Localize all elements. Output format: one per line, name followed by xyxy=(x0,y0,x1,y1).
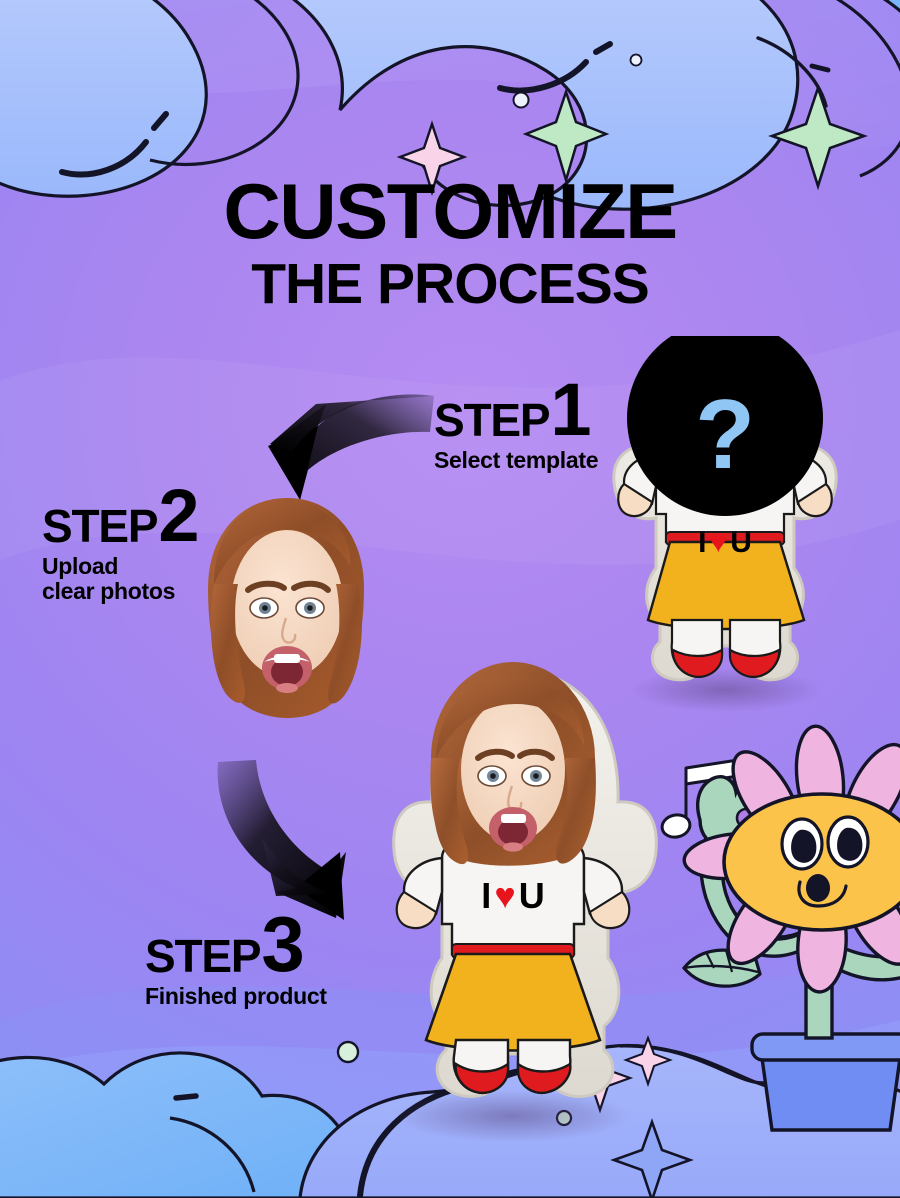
shirt-letter-i: I xyxy=(698,526,706,560)
step-2-word: STEP xyxy=(42,508,157,545)
step-2-heading: STEP 2 xyxy=(42,487,197,545)
promo-poster: CUSTOMIZE THE PROCESS STEP 1 Select temp… xyxy=(0,0,900,1198)
finished-photo-doll[interactable]: I ♥ U xyxy=(368,662,658,1122)
title-main: CUSTOMIZE xyxy=(0,176,900,248)
step-1-number: 1 xyxy=(550,381,588,439)
arrow-step3-icon xyxy=(218,760,346,920)
small-circle-dot xyxy=(514,93,529,108)
shirt-letter-u: U xyxy=(519,875,545,917)
step-2-description: Upload clear photos xyxy=(42,554,197,606)
shirt-letter-u: U xyxy=(730,526,752,560)
small-circle-dot xyxy=(338,1042,358,1062)
shirt-letter-i: I xyxy=(481,875,491,917)
step-2-label-group: STEP 2 Upload clear photos xyxy=(42,487,197,605)
uploaded-photo-face[interactable] xyxy=(182,492,392,722)
step-1-heading: STEP 1 xyxy=(434,381,598,439)
step-3-number: 3 xyxy=(261,914,301,975)
step-2-number: 2 xyxy=(158,487,196,545)
step-1-label-group: STEP 1 Select template xyxy=(434,381,598,473)
heart-icon: ♥ xyxy=(709,526,727,560)
question-mark-icon: ? xyxy=(594,378,856,491)
blank-template-doll[interactable]: ? I ♥ U xyxy=(594,336,856,696)
step-1-description: Select template xyxy=(434,448,598,474)
step-1-word: STEP xyxy=(434,402,549,439)
template-shirt-text: I ♥ U xyxy=(594,526,856,560)
finished-doll-photo-head xyxy=(430,662,596,866)
page-title: CUSTOMIZE THE PROCESS xyxy=(0,176,900,313)
step-3-word: STEP xyxy=(145,938,260,975)
step-3-description: Finished product xyxy=(145,984,327,1010)
step-3-heading: STEP 3 xyxy=(145,914,327,975)
finished-shirt-text: I ♥ U xyxy=(368,875,658,917)
step-3-label-group: STEP 3 Finished product xyxy=(145,914,327,1010)
heart-icon: ♥ xyxy=(494,875,515,917)
title-sub: THE PROCESS xyxy=(0,256,900,313)
step-2-description-line2: clear photos xyxy=(42,579,197,605)
step-2-description-line1: Upload xyxy=(42,554,197,580)
small-circle-dot xyxy=(631,55,642,66)
